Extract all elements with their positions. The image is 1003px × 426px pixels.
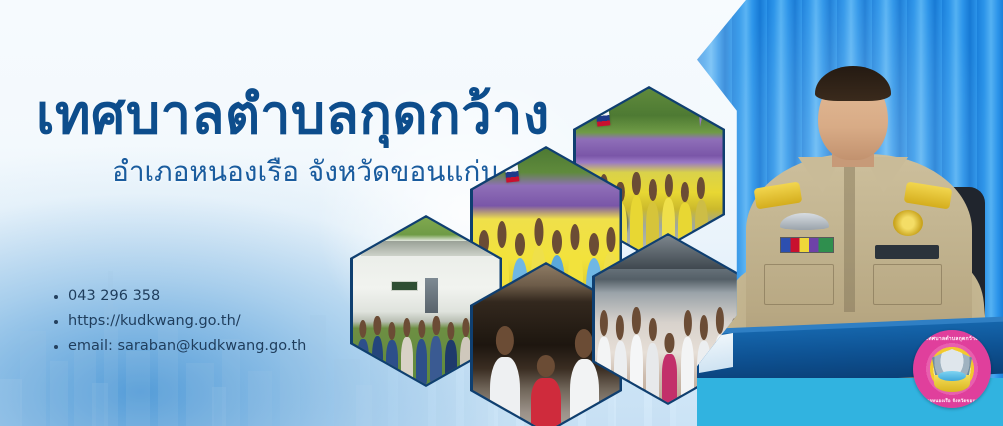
person-figure: [630, 335, 643, 402]
person-figure: [386, 340, 398, 384]
person-figure: [416, 339, 428, 385]
person-figure: [630, 196, 643, 255]
person-figure: [430, 336, 442, 384]
shirt-placket: [844, 160, 855, 312]
pocket-right: [873, 264, 942, 306]
person-figure: [401, 337, 413, 384]
person-in-wheelchair: [531, 378, 560, 426]
hair: [815, 66, 892, 101]
person-figure: [570, 359, 599, 426]
roof-line: [361, 241, 493, 256]
person-figure: [372, 336, 384, 384]
person-figure: [695, 200, 708, 256]
thai-flag-icon: [503, 155, 519, 183]
building-door: [425, 278, 438, 313]
municipality-banner: เทศบาลตำบลกุดกว้าง อำเภอหนองเรือ จังหวัด…: [0, 0, 1003, 426]
person-figure: [357, 339, 369, 385]
person-figure: [460, 337, 472, 384]
person-figure: [490, 357, 519, 426]
name-tag: [875, 245, 939, 259]
person-figure: [681, 337, 694, 402]
municipality-seal[interactable]: เทศบาลตำบลกุดกว้าง อำเภอหนองเรือ จังหวัด…: [913, 330, 991, 408]
pocket-left: [764, 264, 833, 306]
thai-flag-icon: [595, 98, 611, 126]
person-figure: [646, 343, 659, 403]
executive-portrait: เทศบาลตำบลกุดกว้าง อำเภอหนองเรือ จังหวัด…: [697, 0, 1003, 426]
seal-top-text: เทศบาลตำบลกุดกว้าง: [913, 335, 991, 343]
person-figure: [445, 340, 457, 384]
seal-bottom-text: อำเภอหนองเรือ จังหวัดขอนแก่น: [913, 397, 991, 404]
purple-pennant-icon: [698, 94, 707, 127]
building-sign: [391, 281, 418, 291]
ribbon-bar: [780, 237, 834, 252]
person-in-wheelchair: [662, 354, 677, 403]
